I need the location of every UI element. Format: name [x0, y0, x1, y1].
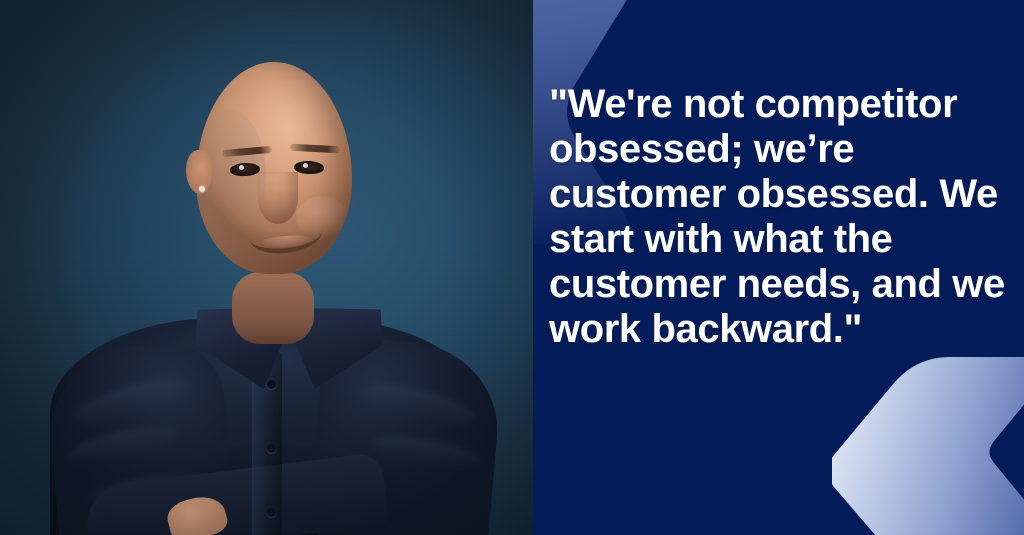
- chevron-left-icon: [832, 357, 1024, 535]
- quote-panel: "We're not competitor obsessed; we’re cu…: [533, 0, 1024, 535]
- quote-text: "We're not competitor obsessed; we’re cu…: [549, 82, 1005, 352]
- quote-card: "We're not competitor obsessed; we’re cu…: [0, 0, 1024, 535]
- photo-vignette: [0, 0, 533, 535]
- portrait-photo: [0, 0, 533, 535]
